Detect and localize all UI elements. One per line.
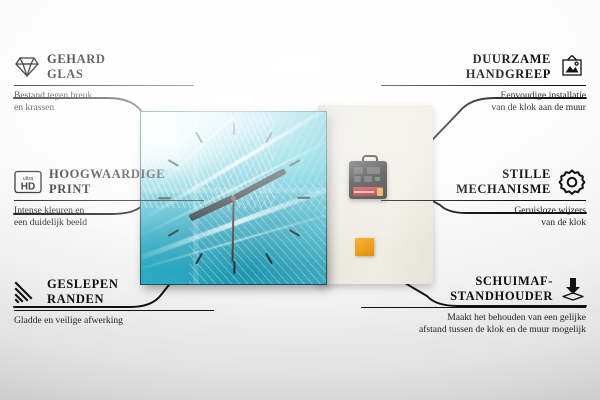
divider [381, 85, 586, 86]
gear-icon [558, 168, 586, 195]
feature-title-line2: HANDGREEP [466, 67, 551, 82]
feature-desc-line2: een duidelijk beeld [14, 217, 204, 229]
divider [381, 200, 586, 201]
feature-title-line2: STANDHOUDER [450, 289, 553, 304]
divider [14, 200, 204, 201]
feature-title-line1: GEHARD [47, 52, 105, 67]
feature-gehard-glas: GEHARD GLAS Bestand tegen breuk en krass… [14, 52, 194, 115]
foam-spacer [355, 238, 374, 256]
feature-desc-line1: Gladde en veilige afwerking [14, 315, 214, 327]
feature-geslepen-randen: GESLEPEN RANDEN Gladde en veilige afwerk… [14, 277, 214, 327]
feature-title-line2: GLAS [47, 67, 105, 82]
feature-title-line2: MECHANISME [456, 182, 551, 197]
clock-center-cap [231, 196, 236, 201]
feature-stille-mechanisme: STILLE MECHANISME Geruisloze wijzers van… [381, 167, 586, 230]
feature-hoogwaardige-print: ultra HD HOOGWAARDIGE PRINT Intense kleu… [14, 167, 204, 230]
divider [14, 310, 214, 311]
ultra-hd-icon: ultra HD [14, 170, 42, 194]
feature-title-line2: PRINT [49, 182, 165, 197]
feature-title-line1: SCHUIMAF- [450, 274, 553, 289]
picture-frame-icon [558, 54, 586, 80]
feature-desc-line2: van de klok [381, 217, 586, 229]
infographic-canvas: GEHARD GLAS Bestand tegen breuk en krass… [0, 0, 600, 400]
divider [361, 307, 586, 308]
feature-title-line2: RANDEN [47, 292, 119, 307]
foam-spacer-icon [560, 276, 586, 302]
feature-desc-line2: en krassen [14, 102, 194, 114]
diamond-icon [14, 56, 40, 78]
beveled-edge-icon [14, 281, 40, 303]
feature-desc-line2: van de klok aan de muur [381, 102, 586, 114]
feature-desc-line2: afstand tussen de klok en de muur mogeli… [361, 324, 586, 336]
feature-title-line1: DUURZAME [466, 52, 551, 67]
feature-title-line1: STILLE [456, 167, 551, 182]
feature-title-line1: HOOGWAARDIGE [49, 167, 165, 182]
feature-desc-line1: Eenvoudige installatie [381, 90, 586, 102]
svg-text:HD: HD [21, 181, 35, 192]
feature-desc-line1: Geruisloze wijzers [381, 205, 586, 217]
feature-desc-line1: Bestand tegen breuk [14, 90, 194, 102]
divider [14, 85, 194, 86]
feature-duurzame-handgreep: DUURZAME HANDGREEP Eenvoudige installati… [381, 52, 586, 115]
feature-desc-line1: Intense kleuren en [14, 205, 204, 217]
feature-title-line1: GESLEPEN [47, 277, 119, 292]
feature-schuimafstandhouder: SCHUIMAF- STANDHOUDER Maakt het behouden… [361, 274, 586, 337]
feature-desc-line1: Maakt het behouden van een gelijke [361, 312, 586, 324]
